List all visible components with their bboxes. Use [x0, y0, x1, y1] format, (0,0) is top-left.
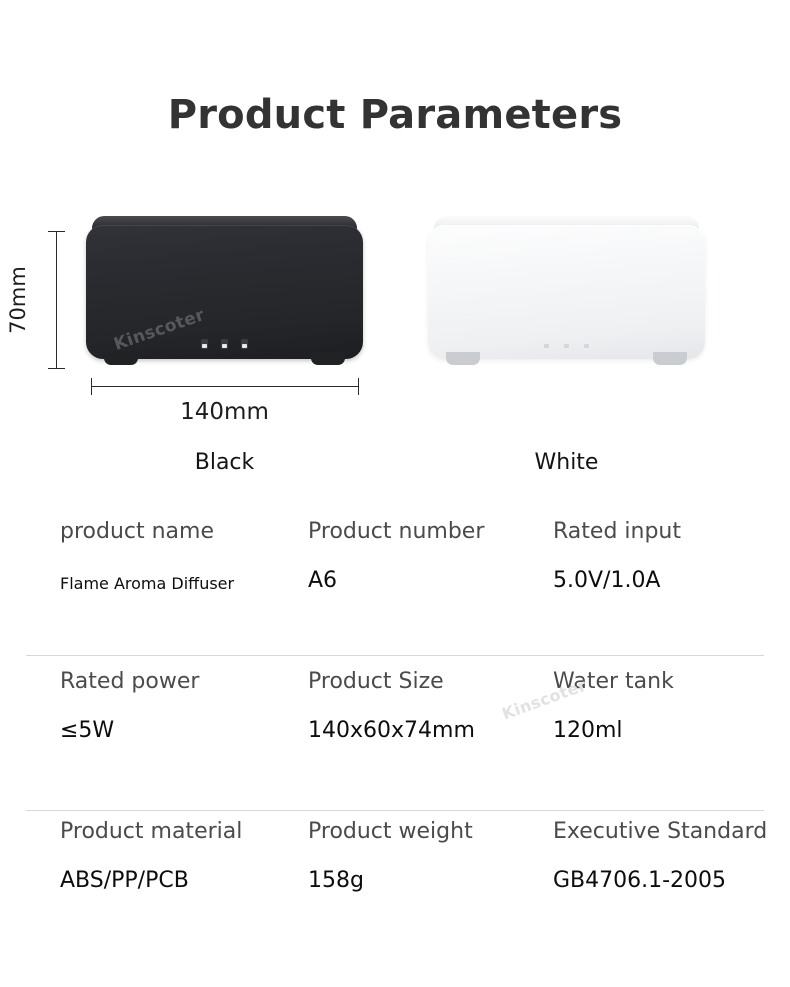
spec-cell: Product material ABS/PP/PCB: [60, 820, 310, 893]
page-title: Product Parameters: [0, 92, 790, 138]
spec-cell: product name Flame Aroma Diffuser: [60, 520, 310, 593]
spec-cell: Product weight 158g: [308, 820, 553, 893]
specifications-table: product name Flame Aroma Diffuser Produc…: [0, 520, 790, 970]
spec-label: Product number: [308, 520, 553, 544]
spec-label: product name: [60, 520, 310, 544]
row-divider: [26, 655, 764, 656]
spec-label: Product weight: [308, 820, 553, 844]
color-caption-black: Black: [86, 450, 363, 475]
spec-value: 158g: [308, 869, 553, 893]
width-dimension-cap-left: [91, 378, 92, 395]
spec-value: A6: [308, 569, 553, 593]
spec-value: 140x60x74mm: [308, 719, 553, 743]
spec-label: Product Size: [308, 670, 553, 694]
spec-row: Rated power ≤5W Product Size 140x60x74mm…: [0, 670, 790, 820]
spec-cell: Rated power ≤5W: [60, 670, 310, 743]
device-body: [428, 225, 705, 359]
spec-value: GB4706.1-2005: [553, 869, 790, 893]
device-foot-right: [653, 352, 687, 365]
height-dimension-label: 70mm: [6, 255, 30, 345]
led-indicator-icon: [583, 339, 590, 349]
spec-label: Product material: [60, 820, 310, 844]
spec-value: Flame Aroma Diffuser: [60, 575, 310, 593]
height-dimension-cap-bottom: [48, 368, 65, 369]
spec-value: 5.0V/1.0A: [553, 569, 790, 593]
led-indicator-icon: [201, 339, 208, 349]
product-parameters-page: Product Parameters 70mm 140mm Kinscoter: [0, 0, 790, 987]
spec-label: Rated power: [60, 670, 310, 694]
color-caption-white: White: [428, 450, 705, 475]
spec-cell: Rated input 5.0V/1.0A: [553, 520, 790, 593]
led-indicator-icon: [563, 339, 570, 349]
width-dimension-cap-right: [358, 378, 359, 395]
device-foot-left: [104, 352, 138, 365]
spec-label: Executive Standard: [553, 820, 790, 844]
spec-label: Water tank: [553, 670, 790, 694]
spec-row: Product material ABS/PP/PCB Product weig…: [0, 820, 790, 970]
spec-label: Rated input: [553, 520, 790, 544]
width-dimension-line: [91, 386, 358, 387]
led-indicator-row: [428, 339, 705, 349]
height-dimension-line: [56, 231, 57, 368]
spec-value: ABS/PP/PCB: [60, 869, 310, 893]
row-divider: [26, 810, 764, 811]
spec-cell: Product Size 140x60x74mm: [308, 670, 553, 743]
led-indicator-icon: [241, 339, 248, 349]
width-dimension-label: 140mm: [91, 399, 358, 425]
height-dimension-cap-top: [48, 231, 65, 232]
spec-cell: Executive Standard GB4706.1-2005: [553, 820, 790, 893]
spec-value: 120ml: [553, 719, 790, 743]
device-foot-right: [311, 352, 345, 365]
led-indicator-icon: [543, 339, 550, 349]
device-foot-left: [446, 352, 480, 365]
product-image-black: Kinscoter: [86, 216, 363, 368]
spec-cell: Water tank 120ml: [553, 670, 790, 743]
spec-row: product name Flame Aroma Diffuser Produc…: [0, 520, 790, 670]
spec-cell: Product number A6: [308, 520, 553, 593]
led-indicator-icon: [221, 339, 228, 349]
spec-value: ≤5W: [60, 719, 310, 743]
product-image-white: [428, 216, 705, 368]
